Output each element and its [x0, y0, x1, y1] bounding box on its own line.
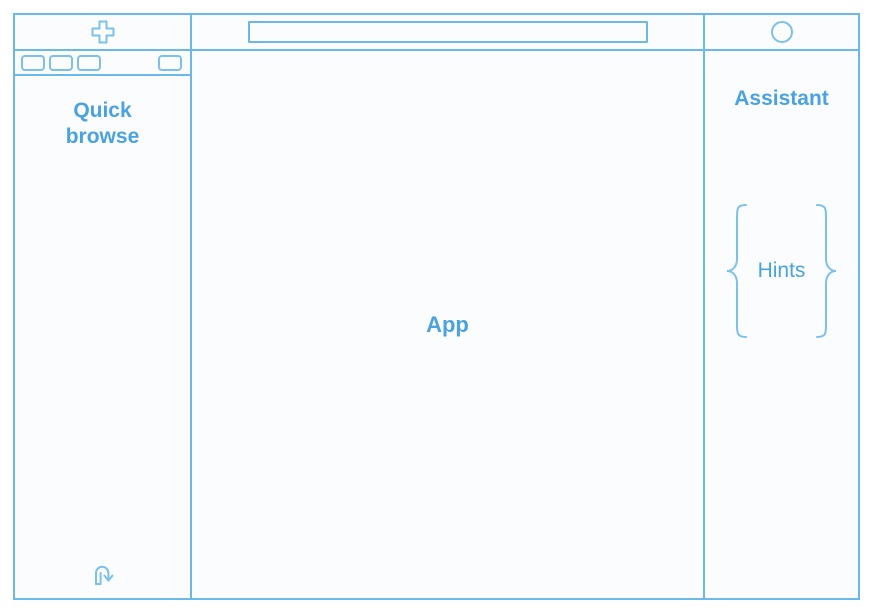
main-body-row: Quick browse App Assistant: [15, 51, 858, 598]
hints-label: Hints: [752, 259, 812, 283]
tab-chip-4[interactable]: [158, 55, 182, 71]
address-input[interactable]: [248, 21, 648, 43]
tab-chip-1[interactable]: [21, 55, 45, 71]
tab-chip-3[interactable]: [77, 55, 101, 71]
left-curly-brace-icon: [722, 201, 752, 341]
tab-chip-2[interactable]: [49, 55, 73, 71]
new-tab-cell: [15, 15, 192, 49]
assistant-panel: Assistant Hints: [705, 51, 858, 598]
quick-browse-title-line-2: browse: [23, 124, 182, 150]
circle-avatar-icon[interactable]: [770, 20, 794, 44]
u-turn-arrow-icon[interactable]: [88, 560, 118, 590]
quick-browse-title-line-1: Quick: [23, 98, 182, 124]
right-curly-brace-icon: [811, 201, 841, 341]
address-bar-cell: [192, 15, 705, 49]
assistant-title: Assistant: [705, 87, 858, 111]
browser-chrome-bar: [15, 15, 858, 51]
plus-icon[interactable]: [90, 19, 116, 45]
sidebar-footer: [15, 560, 190, 590]
quick-browse-title: Quick browse: [15, 98, 190, 151]
account-cell: [705, 15, 858, 49]
hints-block: Hints: [705, 201, 858, 341]
quick-browse-sidebar: Quick browse: [15, 51, 192, 598]
wireframe-frame: Quick browse App Assistant: [13, 13, 860, 600]
app-label: App: [426, 312, 469, 338]
sidebar-tab-strip: [15, 51, 190, 76]
app-canvas[interactable]: App: [192, 51, 705, 598]
